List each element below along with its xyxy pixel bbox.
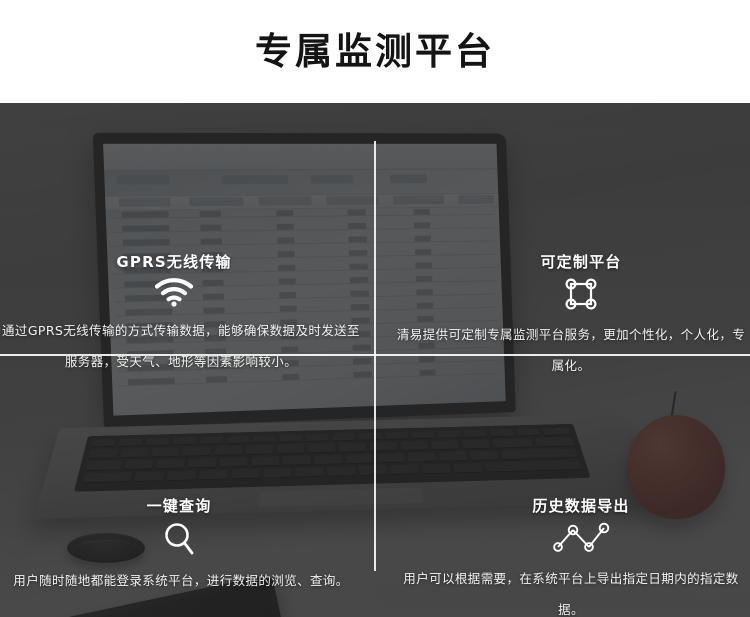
- feature-title: 历史数据导出: [412, 499, 750, 514]
- page-title: 专属监测平台: [255, 33, 495, 70]
- feature-body: 通过GPRS无线传输的方式传输数据，能够确保数据及时发送至服务器，受天气、地形等…: [0, 315, 362, 377]
- feature-title: 一键查询: [0, 499, 362, 514]
- command-icon: [412, 277, 750, 311]
- promo-page: 专属监测平台: [0, 0, 750, 617]
- hero-photo-panel: GPRS无线传输 通过GPRS无线传输的方式传输数据，能够确保数据及时发送至服务…: [0, 103, 750, 617]
- page-header: 专属监测平台: [0, 0, 750, 103]
- feature-body: 用户可以根据需要，在系统平台上导出指定日期内的指定数据。: [392, 563, 750, 617]
- feature-title: 可定制平台: [412, 255, 750, 270]
- search-icon: [0, 521, 362, 557]
- line-chart-icon: [412, 521, 750, 555]
- feature-title: GPRS无线传输: [0, 255, 362, 270]
- wifi-icon: [0, 277, 362, 307]
- feature-body: 清易提供可定制专属监测平台服务，更加个性化，个人化，专属化。: [392, 319, 750, 381]
- feature-gprs: GPRS无线传输 通过GPRS无线传输的方式传输数据，能够确保数据及时发送至服务…: [0, 255, 362, 377]
- feature-body: 用户随时随地都能登录系统平台，进行数据的浏览、查询。: [0, 565, 362, 596]
- divider-vertical: [374, 141, 376, 571]
- feature-one-click-query: 一键查询 用户随时随地都能登录系统平台，进行数据的浏览、查询。: [0, 499, 362, 596]
- feature-history-export: 历史数据导出 用户可以根据需要，在系统平台上导出指定日期内的指定数据。: [392, 499, 750, 617]
- feature-custom-platform: 可定制平台 清易提供可定制专属监测平台服务，更加个性化，个人化，专属化。: [392, 255, 750, 381]
